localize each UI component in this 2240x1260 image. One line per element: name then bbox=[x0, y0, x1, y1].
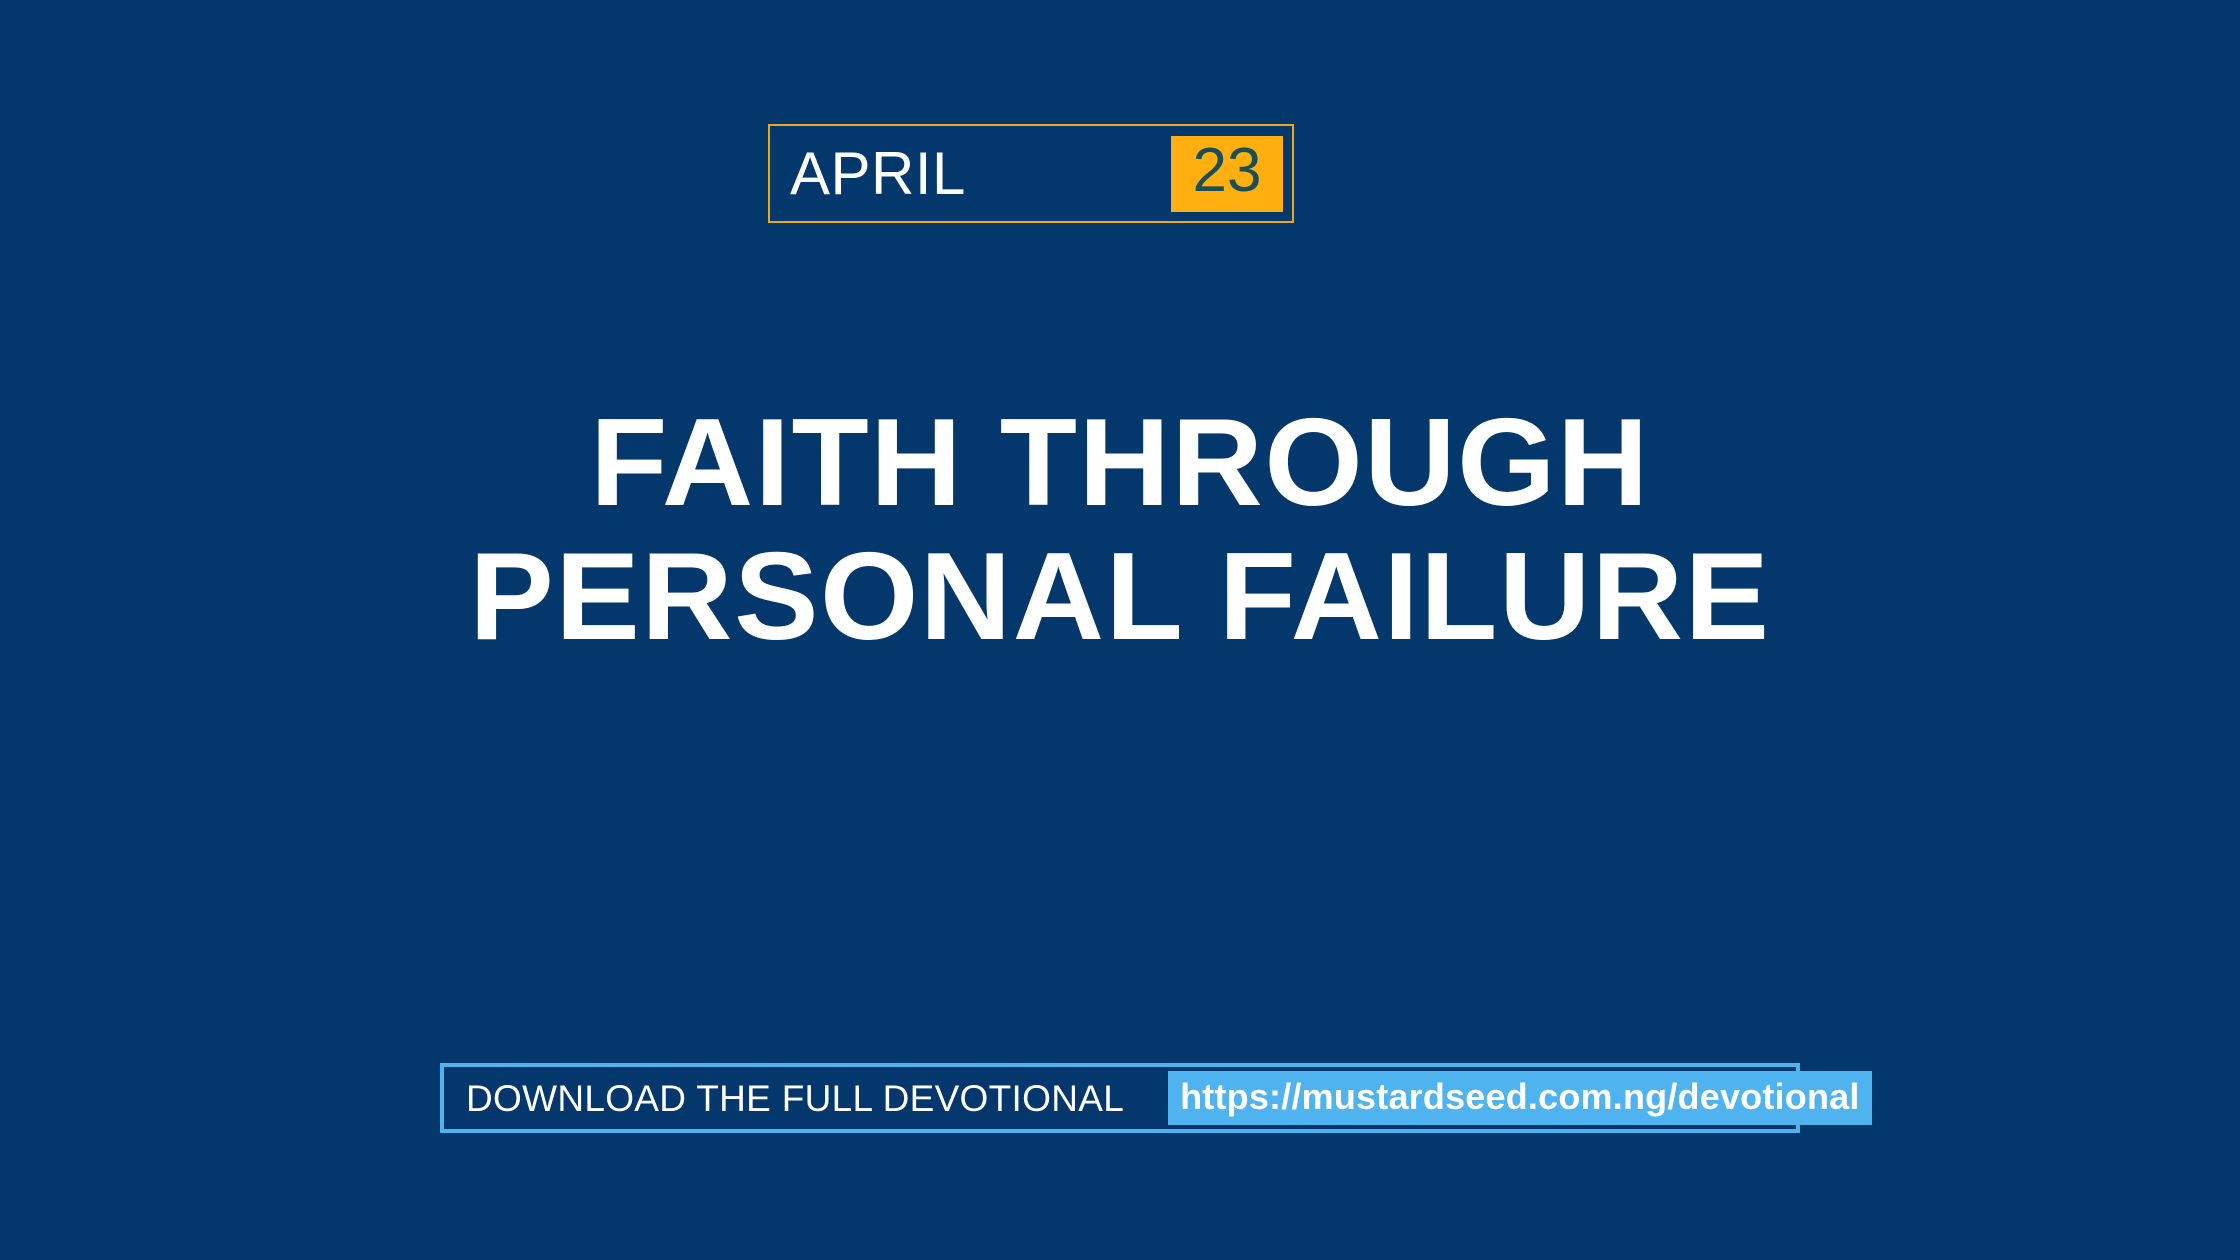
date-banner: APRIL 23 bbox=[768, 124, 1294, 223]
date-month-label: APRIL bbox=[770, 144, 966, 204]
title-line-2: PERSONAL FAILURE bbox=[0, 530, 2240, 664]
slide-canvas: APRIL 23 FAITH THROUGH PERSONAL FAILURE … bbox=[0, 0, 2240, 1260]
download-label: DOWNLOAD THE FULL DEVOTIONAL bbox=[444, 1080, 1124, 1117]
title-line-1: FAITH THROUGH bbox=[0, 396, 2240, 530]
download-bar[interactable]: DOWNLOAD THE FULL DEVOTIONAL https://mus… bbox=[440, 1063, 1800, 1133]
date-day-badge: 23 bbox=[1171, 136, 1283, 212]
page-title: FAITH THROUGH PERSONAL FAILURE bbox=[0, 396, 2240, 664]
devotional-url-link[interactable]: https://mustardseed.com.ng/devotional bbox=[1168, 1071, 1871, 1125]
